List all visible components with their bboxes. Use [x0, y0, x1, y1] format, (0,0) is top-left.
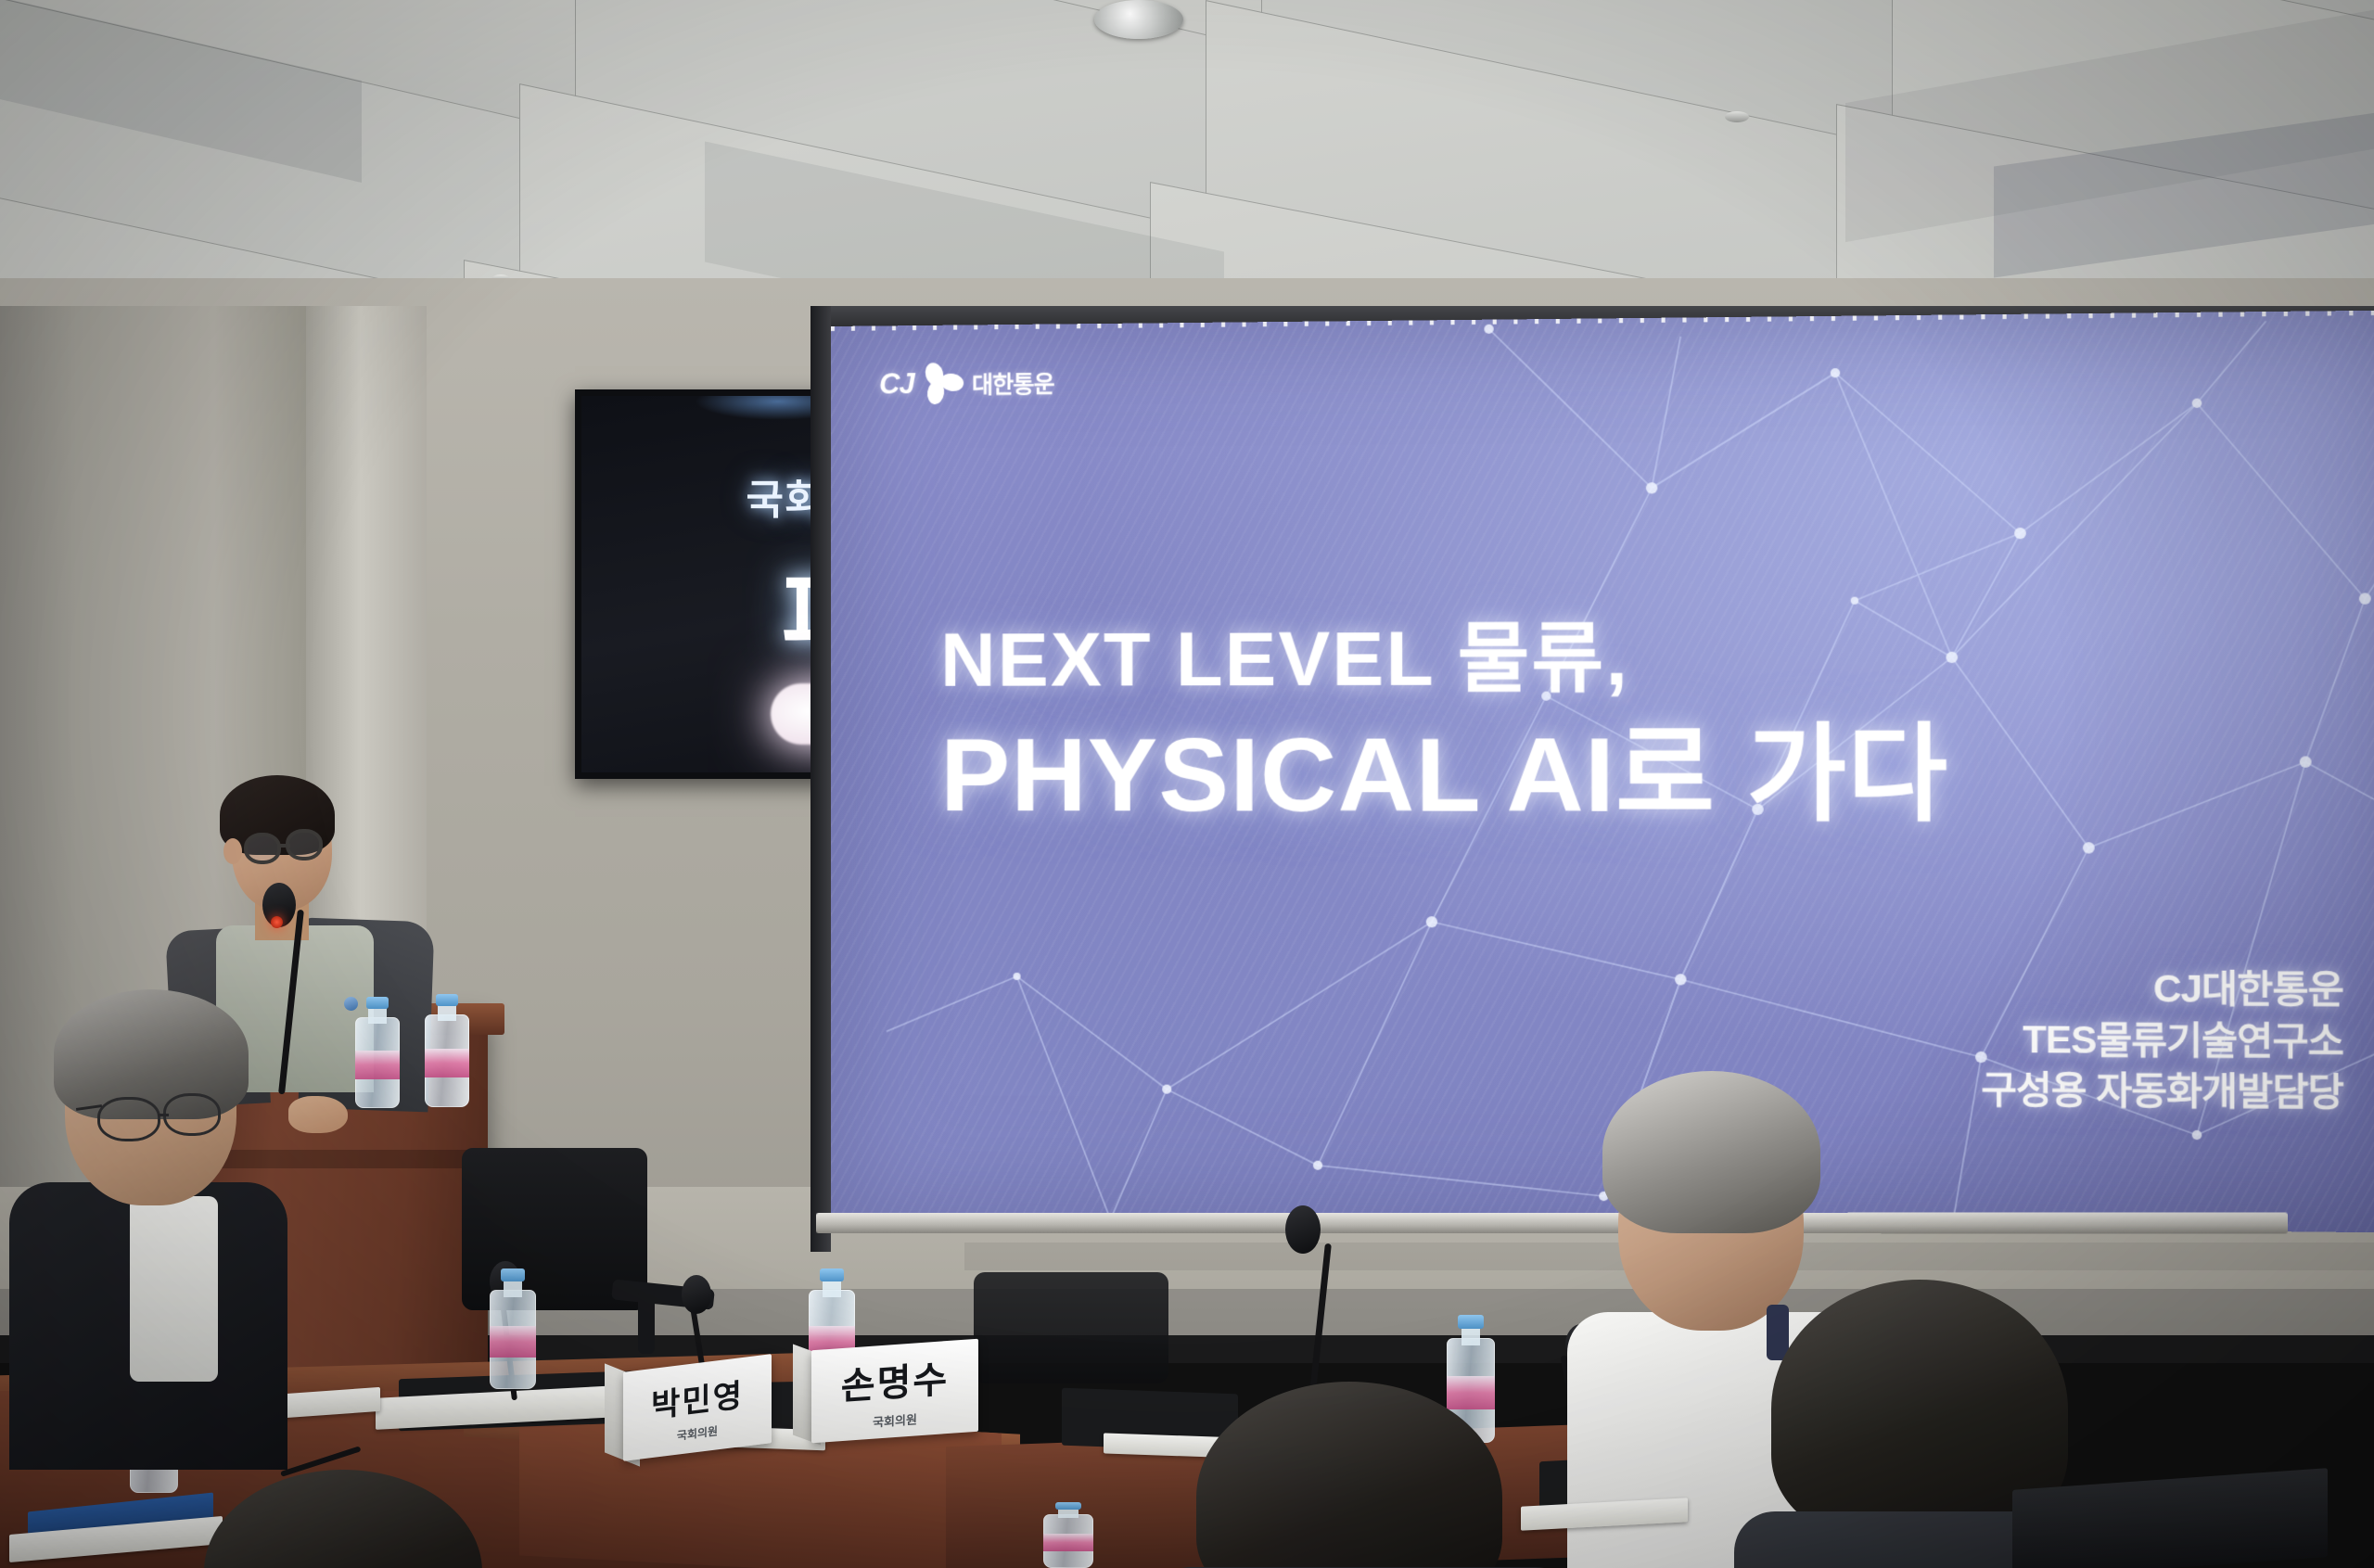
cj-wordmark: CJ	[879, 367, 914, 401]
panelist-left	[9, 997, 325, 1460]
slide-title-line-2: PHYSICAL AI로 가다	[940, 722, 1948, 829]
credit-line-2: TES물류기술연구소	[1981, 1014, 2343, 1067]
nameplate-subtitle: 국회의원	[873, 1409, 917, 1430]
desk-mic-head	[1285, 1205, 1321, 1254]
credit-line-3: 구성용 자동화개발담당	[1981, 1065, 2343, 1119]
presenter-glasses-icon	[244, 833, 281, 864]
water-bottle	[425, 994, 469, 1107]
credit-line-1: CJ대한통운	[1981, 964, 2343, 1017]
slide-title-block: NEXT LEVEL 물류, PHYSICAL AI로 가다	[940, 619, 1948, 829]
nameplate: 박민영 국회의원	[623, 1354, 772, 1461]
attendee-foreground-left	[185, 1470, 519, 1568]
chair[interactable]	[974, 1272, 1168, 1383]
water-bottle	[1043, 1502, 1093, 1568]
panelist-glasses-icon	[97, 1097, 160, 1141]
photo-scene: 국회서 피	[0, 0, 2374, 1568]
attendee-foreground-center	[1168, 1382, 1595, 1568]
cj-clover-icon	[922, 363, 964, 406]
chair-armrest	[638, 1289, 655, 1354]
nameplate: 손명수 국회의원	[811, 1339, 978, 1444]
mic-led-indicator	[271, 916, 283, 928]
sprinkler-icon	[1725, 111, 1749, 122]
ceiling-vent-icon	[1094, 0, 1183, 39]
screen-left-edge	[810, 306, 831, 1252]
slide-credits-block: CJ대한통운 TES물류기술연구소 구성용 자동화개발담당	[1981, 964, 2343, 1119]
desk-mic-head	[682, 1275, 711, 1314]
nameplate-name: 손명수	[841, 1349, 949, 1410]
water-bottle	[490, 1268, 536, 1389]
water-bottle	[355, 997, 400, 1108]
nameplate-name: 박민영	[651, 1369, 744, 1425]
nameplate-subtitle: 국회의원	[677, 1422, 718, 1443]
slide-title-line-1: NEXT LEVEL 물류,	[940, 619, 1948, 699]
cj-korean-name: 대한통운	[972, 366, 1054, 401]
cj-logo: CJ 대한통운	[879, 362, 1054, 406]
